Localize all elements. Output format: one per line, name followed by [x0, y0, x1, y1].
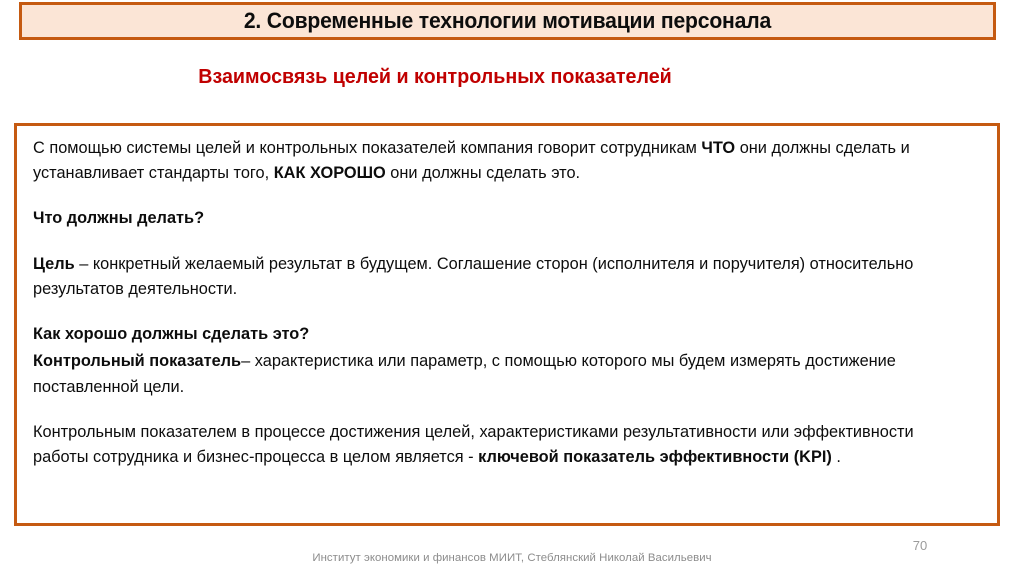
content-box: С помощью системы целей и контрольных по…	[14, 123, 1000, 526]
question-heading-howwell-text: Как хорошо должны сделать это?	[33, 324, 309, 343]
question-heading-what: Что должны делать?	[33, 205, 969, 230]
emphasis-kak-horosho: КАК ХОРОШО	[274, 163, 386, 182]
page-title: 2. Современные технологии мотивации перс…	[244, 10, 771, 33]
paragraph-goal-text: – конкретный желаемый результат в будуще…	[33, 254, 913, 298]
paragraph-intro: С помощью системы целей и контрольных по…	[33, 135, 969, 185]
term-goal: Цель	[33, 254, 75, 273]
paragraph-kpi: Контрольным показателем в процессе дости…	[33, 419, 969, 469]
slide-title-banner: 2. Современные технологии мотивации перс…	[19, 2, 996, 40]
paragraph-intro-part1: С помощью системы целей и контрольных по…	[33, 138, 701, 157]
slide-subtitle: Взаимосвязь целей и контрольных показате…	[17, 66, 852, 89]
footer-attribution: Институт экономики и финансов МИИТ, Стеб…	[0, 552, 1024, 564]
spacer	[33, 399, 983, 419]
term-control-indicator: Контрольный показатель	[33, 351, 241, 370]
paragraph-kpi-part2: .	[832, 447, 841, 466]
paragraph-intro-part3: они должны сделать это.	[386, 163, 580, 182]
page-number: 70	[900, 538, 940, 553]
spacer	[33, 301, 983, 321]
spacer	[33, 231, 983, 251]
emphasis-chto: ЧТО	[701, 138, 735, 157]
question-heading-howwell: Как хорошо должны сделать это?	[33, 321, 969, 346]
spacer	[33, 185, 983, 205]
term-kpi: ключевой показатель эффективности (KPI)	[478, 447, 832, 466]
question-heading-what-text: Что должны делать?	[33, 208, 204, 227]
paragraph-goal: Цель – конкретный желаемый результат в б…	[33, 251, 969, 301]
paragraph-indicator: Контрольный показатель– характеристика и…	[33, 348, 969, 398]
